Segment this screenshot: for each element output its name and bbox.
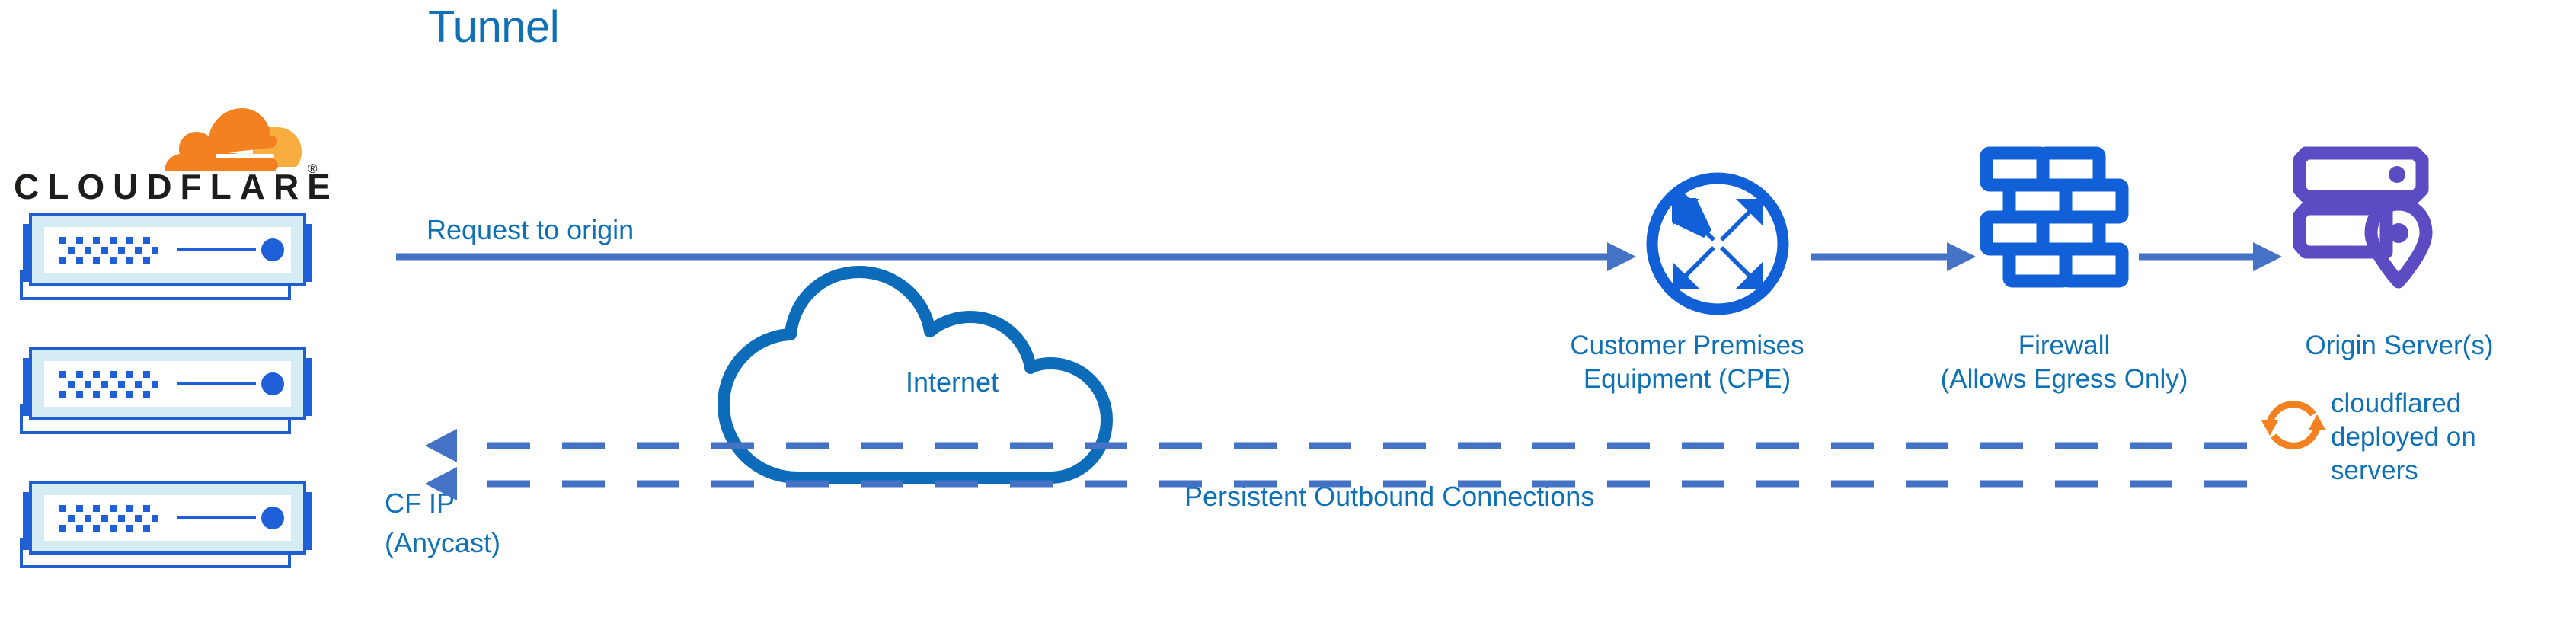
page-title: Tunnel <box>428 2 559 53</box>
sync-circular-arrows-icon <box>2258 390 2328 464</box>
cpe-label: Customer Premises Equipment (CPE) <box>1512 329 1862 396</box>
firewall-label: Firewall (Allows Egress Only) <box>1900 329 2228 396</box>
cloudflare-wordmark: CLOUDFLARE <box>14 166 339 207</box>
persistent-outbound-connections-label: Persistent Outbound Connections <box>1184 480 1594 513</box>
origin-server-label: Origin Server(s) <box>2232 329 2567 363</box>
registered-trademark-symbol: ® <box>308 161 318 177</box>
router-converge-arrows-icon <box>1641 168 1794 324</box>
server-rack-unit <box>8 480 328 577</box>
internet-label: Internet <box>830 366 1074 399</box>
brick-wall-icon <box>1978 145 2130 301</box>
cf-ip-anycast-label: CF IP (Anycast) <box>385 484 500 563</box>
arrow-persistent-outbound-1 <box>425 429 2247 462</box>
arrow-firewall-to-origin <box>2139 242 2282 271</box>
server-rack-unit <box>8 346 328 443</box>
server-location-pin-icon <box>2289 143 2449 299</box>
diagram-canvas: Tunnel CLOUDFLARE ® <box>0 0 2576 617</box>
request-to-origin-label: Request to origin <box>427 213 634 247</box>
cloudflared-annotation-label: cloudflared deployed on servers <box>2331 387 2559 488</box>
arrow-cpe-to-firewall <box>1811 242 1976 271</box>
internet-cloud-icon <box>708 225 1165 488</box>
server-rack-unit <box>8 212 328 309</box>
cloudflare-logo: CLOUDFLARE ® <box>14 107 334 202</box>
